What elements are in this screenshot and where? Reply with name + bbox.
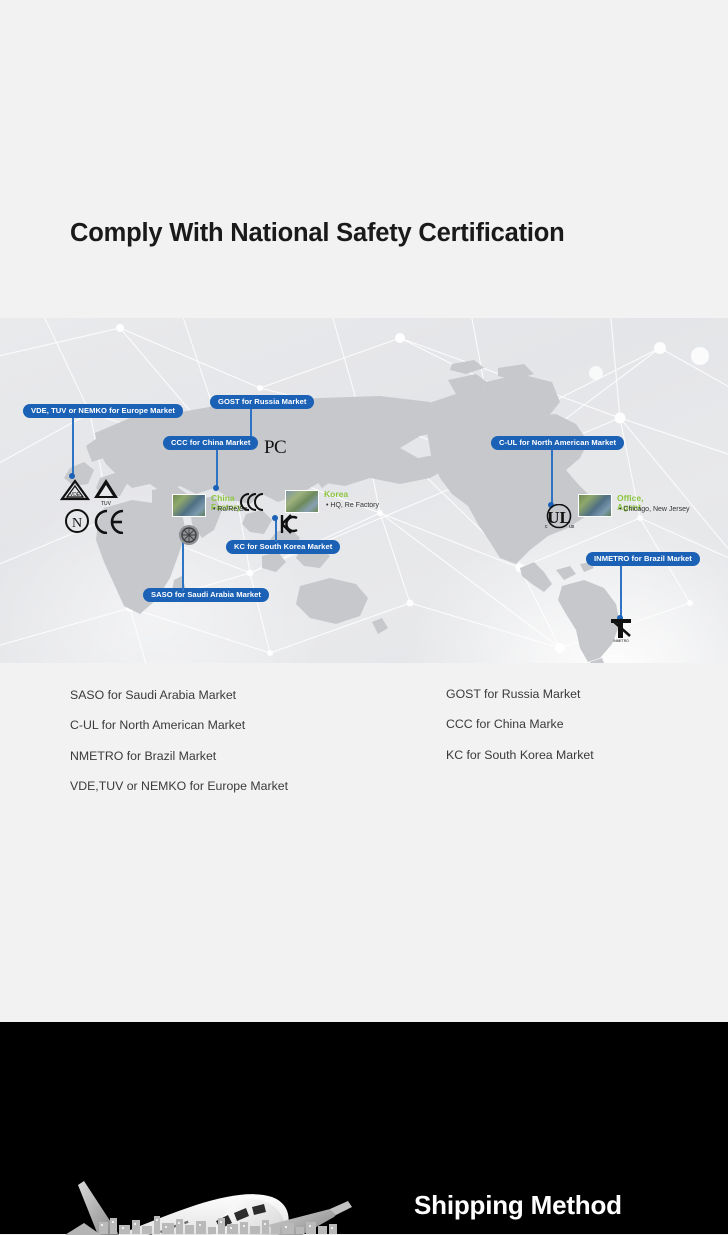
map-pin-label-north-america[interactable]: C-UL for North American Market <box>491 436 624 450</box>
ccc-mark-icon <box>239 492 265 512</box>
facility-sub-office: • Chicago, New Jersey <box>619 506 690 513</box>
svg-text:INMETRO: INMETRO <box>613 639 629 642</box>
license-list-item: NMETRO for Brazil Market <box>70 750 288 762</box>
inmetro-mark-icon: INMETRO <box>608 616 634 642</box>
pin-stem-china <box>216 450 218 488</box>
map-pin-label-europe[interactable]: VDE, TUV or NEMKO for Europe Market <box>23 404 183 418</box>
svg-text:VDE: VDE <box>70 492 81 498</box>
pin-stem-korea <box>275 520 277 542</box>
ul-mark-icon: UL c us <box>543 504 575 530</box>
pin-stem-north-america <box>551 450 553 505</box>
page-title: Comply With National Safety Certificatio… <box>70 219 565 248</box>
vde-mark-icon: VDE <box>60 478 90 504</box>
world-map-section: APPROVED LICENSES VDE, TUV or NEMKO for … <box>0 318 728 663</box>
license-list-item: GOST for Russia Market <box>446 688 594 700</box>
title-band: Comply With National Safety Certificatio… <box>0 0 728 318</box>
nemko-mark-icon: N <box>64 508 90 534</box>
svg-text:P: P <box>264 437 275 458</box>
license-list-section: SASO for Saudi Arabia Market C-UL for No… <box>0 663 728 1022</box>
license-list-item: VDE,TUV or NEMKO for Europe Market <box>70 780 288 792</box>
map-pin-label-china[interactable]: CCC for China Market <box>163 436 258 450</box>
facility-sub-korea: • HQ, Re Factory <box>326 502 379 509</box>
svg-text:N: N <box>72 516 82 531</box>
pin-stem-brazil <box>620 566 622 618</box>
svg-text:TUV: TUV <box>101 501 112 506</box>
license-column-left: SASO for Saudi Arabia Market C-UL for No… <box>70 689 288 810</box>
city-skyline <box>95 1213 340 1234</box>
map-pin-label-russia[interactable]: GOST for Russia Market <box>210 395 314 409</box>
license-list-item: SASO for Saudi Arabia Market <box>70 689 288 701</box>
map-pin-label-saudi[interactable]: SASO for Saudi Arabia Market <box>143 588 269 602</box>
svg-text:C: C <box>274 437 287 458</box>
facility-thumbnail-office <box>578 494 612 517</box>
svg-text:us: us <box>569 524 575 530</box>
ce-mark-icon <box>92 508 126 534</box>
license-list-item: CCC for China Marke <box>446 718 594 730</box>
saso-mark-icon <box>178 524 200 546</box>
tuv-mark-icon: TUV <box>92 476 120 506</box>
kc-mark-icon <box>279 513 299 535</box>
pin-dot-china <box>213 485 219 491</box>
facility-thumbnail-china <box>172 494 206 517</box>
svg-text:UL: UL <box>547 508 571 527</box>
map-pin-label-brazil[interactable]: INMETRO for Brazil Market <box>586 552 700 566</box>
shipping-method-title: Shipping Method <box>414 1190 622 1221</box>
license-list-item: C-UL for North American Market <box>70 719 288 731</box>
pin-dot-korea <box>272 515 278 521</box>
pin-stem-europe <box>72 418 74 476</box>
gost-mark-icon: P C <box>263 434 289 458</box>
map-pin-label-korea[interactable]: KC for South Korea Market <box>226 540 340 554</box>
facility-thumbnail-korea <box>285 490 319 513</box>
facility-name-korea: Korea <box>324 490 348 499</box>
license-column-right: GOST for Russia Market CCC for China Mar… <box>446 688 594 779</box>
license-list-item: KC for South Korea Market <box>446 749 594 761</box>
